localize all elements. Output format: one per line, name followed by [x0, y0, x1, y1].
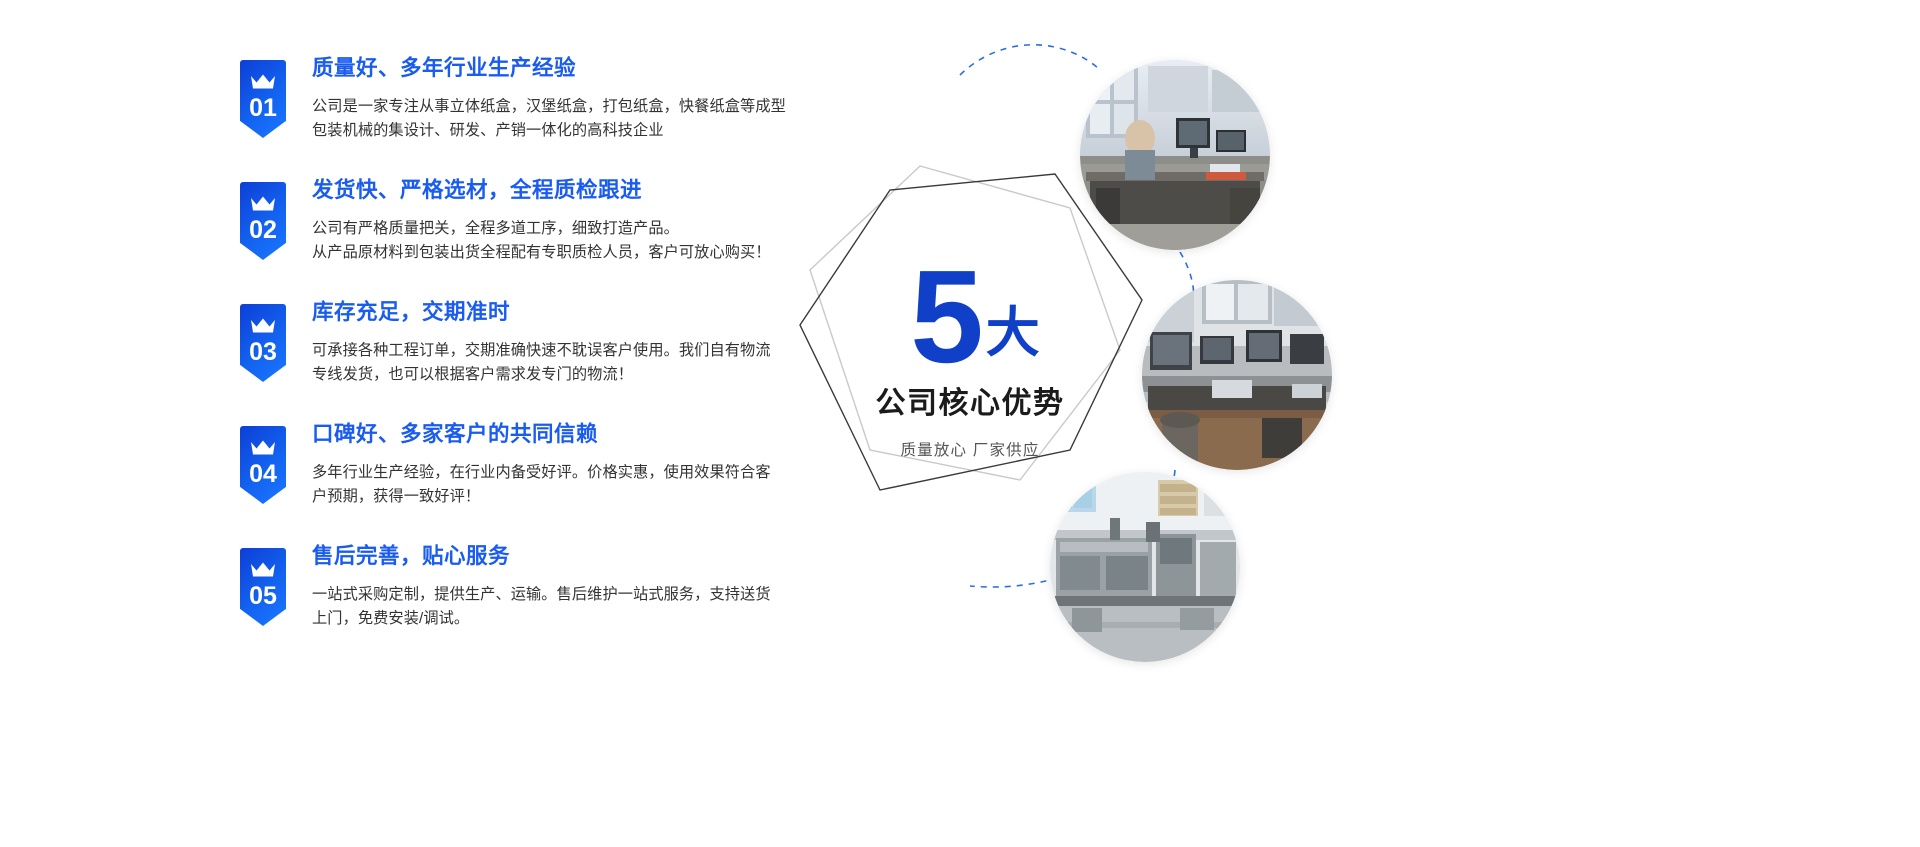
feature-desc-line: 专线发货，也可以根据客户需求发专门的物流！: [312, 363, 812, 388]
crown-icon: [250, 439, 276, 456]
page-root: 01 质量好、多年行业生产经验 公司是一家专注从事立体纸盒，汉堡纸盒，打包纸盒，…: [0, 0, 1920, 847]
feature-number: 03: [249, 340, 277, 365]
feature-badge-04: 04: [240, 426, 286, 504]
feature-title: 发货快、严格选材，全程质检跟进: [312, 178, 832, 204]
feature-badge-05: 05: [240, 548, 286, 626]
feature-title: 质量好、多年行业生产经验: [312, 56, 832, 82]
photo-image: [1050, 472, 1240, 662]
crown-icon: [250, 73, 276, 90]
feature-badge-01: 01: [240, 60, 286, 138]
photo-image: [1080, 60, 1270, 250]
feature-item-01[interactable]: 01 质量好、多年行业生产经验 公司是一家专注从事立体纸盒，汉堡纸盒，打包纸盒，…: [240, 52, 880, 148]
feature-content: 质量好、多年行业生产经验 公司是一家专注从事立体纸盒，汉堡纸盒，打包纸盒，快餐纸…: [312, 52, 832, 144]
feature-title: 库存充足，交期准时: [312, 300, 832, 326]
feature-number: 01: [249, 96, 277, 121]
feature-badge-02: 02: [240, 182, 286, 260]
feature-number: 05: [249, 584, 277, 609]
feature-desc-line: 上门，免费安装/调试。: [312, 607, 812, 632]
crown-icon: [250, 317, 276, 334]
office-desks-photo[interactable]: [1142, 280, 1332, 470]
crown-icon: [250, 195, 276, 212]
feature-number: 02: [249, 218, 277, 243]
feature-desc-line: 一站式采购定制，提供生产、运输。售后维护一站式服务，支持送货: [312, 583, 812, 608]
feature-content: 售后完善，贴心服务 一站式采购定制，提供生产、运输。售后维护一站式服务，支持送货…: [312, 540, 832, 632]
feature-title: 口碑好、多家客户的共同信赖: [312, 422, 832, 448]
feature-description: 多年行业生产经验，在行业内备受好评。价格实惠，使用效果符合客 户预期，获得一致好…: [312, 461, 812, 510]
feature-badge-03: 03: [240, 304, 286, 382]
office-workstation-photo[interactable]: [1080, 60, 1270, 250]
feature-description: 公司是一家专注从事立体纸盒，汉堡纸盒，打包纸盒，快餐纸盒等成型 包装机械的集设计…: [312, 95, 812, 144]
feature-desc-line: 公司有严格质量把关，全程多道工序，细致打造产品。: [312, 217, 812, 242]
feature-desc-line: 户预期，获得一致好评！: [312, 485, 812, 510]
feature-content: 库存充足，交期准时 可承接各种工程订单，交期准确快速不耽误客户使用。我们自有物流…: [312, 296, 832, 388]
feature-number: 04: [249, 462, 277, 487]
feature-desc-line: 包装机械的集设计、研发、产销一体化的高科技企业: [312, 119, 812, 144]
feature-desc-line: 多年行业生产经验，在行业内备受好评。价格实惠，使用效果符合客: [312, 461, 812, 486]
photo-image: [1142, 280, 1332, 470]
feature-desc-line: 公司是一家专注从事立体纸盒，汉堡纸盒，打包纸盒，快餐纸盒等成型: [312, 95, 812, 120]
production-machine-photo[interactable]: [1050, 472, 1240, 662]
feature-description: 公司有严格质量把关，全程多道工序，细致打造产品。 从产品原材料到包装出货全程配有…: [312, 217, 812, 266]
feature-description: 一站式采购定制，提供生产、运输。售后维护一站式服务，支持送货 上门，免费安装/调…: [312, 583, 812, 632]
feature-description: 可承接各种工程订单，交期准确快速不耽误客户使用。我们自有物流 专线发货，也可以根…: [312, 339, 812, 388]
feature-content: 发货快、严格选材，全程质检跟进 公司有严格质量把关，全程多道工序，细致打造产品。…: [312, 174, 832, 266]
feature-title: 售后完善，贴心服务: [312, 544, 832, 570]
feature-desc-line: 从产品原材料到包装出货全程配有专职质检人员，客户可放心购买！: [312, 241, 812, 266]
feature-content: 口碑好、多家客户的共同信赖 多年行业生产经验，在行业内备受好评。价格实惠，使用效…: [312, 418, 832, 510]
photo-cluster: [1020, 40, 1400, 660]
feature-desc-line: 可承接各种工程订单，交期准确快速不耽误客户使用。我们自有物流: [312, 339, 812, 364]
crown-icon: [250, 561, 276, 578]
